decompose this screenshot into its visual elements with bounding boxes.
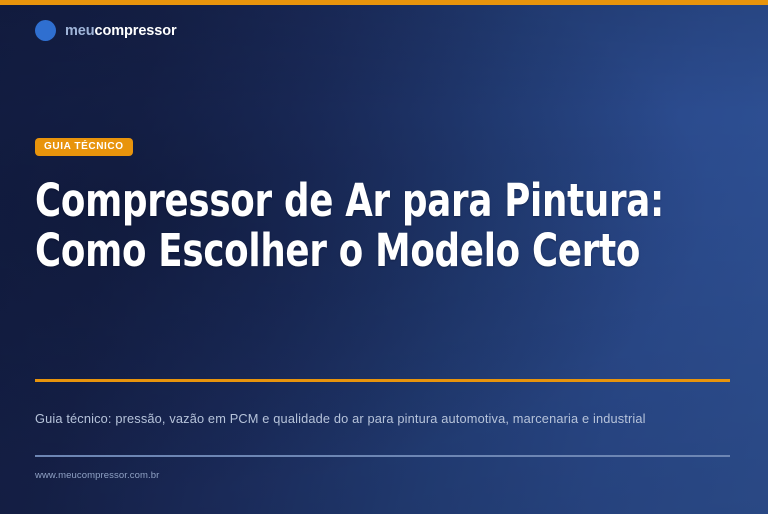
page-title-line-1: Compressor de Ar para Pintura:: [35, 176, 649, 226]
top-accent-bar: [0, 0, 768, 5]
logo-wordmark-suffix: compressor: [95, 23, 177, 39]
footer-divider: [35, 455, 730, 457]
logo-wordmark-prefix: meu: [65, 23, 95, 39]
footer-website-url[interactable]: www.meucompressor.com.br: [35, 470, 159, 481]
accent-divider: [35, 379, 730, 382]
slide-canvas: meucompressor GUIA TÉCNICO Compressor de…: [0, 0, 768, 514]
logo-wordmark: meucompressor: [65, 23, 177, 39]
hero-content: GUIA TÉCNICO Compressor de Ar para Pintu…: [35, 136, 733, 306]
brand-logo[interactable]: meucompressor: [35, 20, 177, 41]
page-subtitle: Guia técnico: pressão, vazão em PCM e qu…: [35, 408, 710, 429]
logo-circle-icon: [35, 20, 56, 41]
page-title: Compressor de Ar para Pintura: Como Esco…: [35, 176, 649, 276]
page-title-line-2: Como Escolher o Modelo Certo: [35, 226, 649, 276]
status-badge: GUIA TÉCNICO: [35, 138, 133, 156]
